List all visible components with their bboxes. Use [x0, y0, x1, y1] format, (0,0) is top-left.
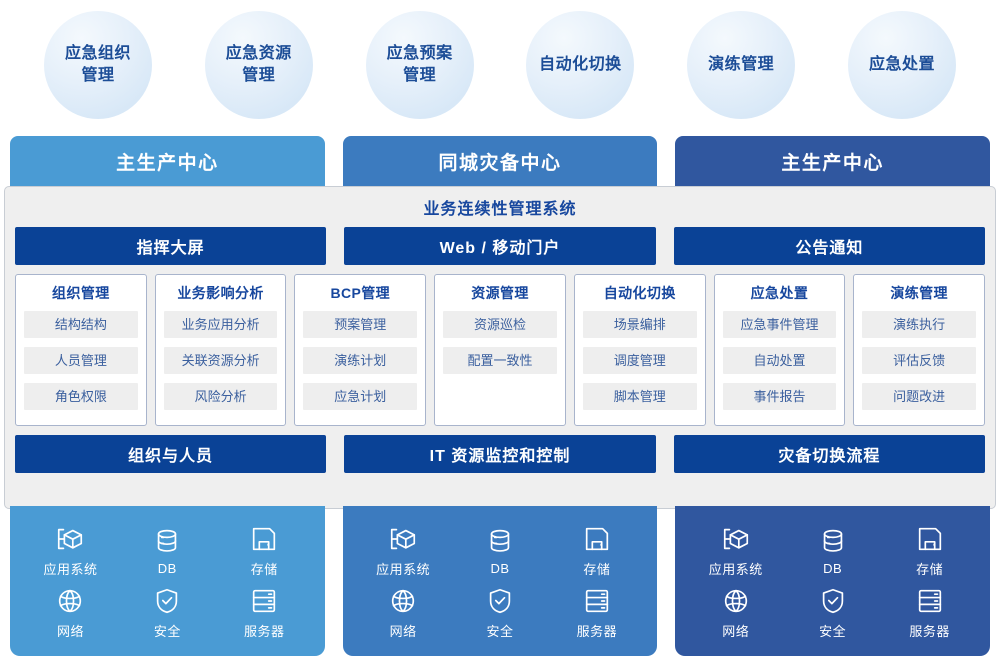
tab-primary-production-center[interactable]: 主生产中心	[10, 136, 325, 192]
module-card-title: 资源管理	[443, 283, 557, 303]
infra-item-label: 存储	[583, 559, 610, 578]
module-card-item[interactable]: 应急事件管理	[723, 311, 837, 338]
capability-circles-row: 应急组织 管理 应急资源 管理 应急预案 管理 自动化切换 演练管理 应急处置	[0, 0, 1000, 130]
capability-circle-label-line1: 应急资源	[218, 43, 300, 65]
module-card-item[interactable]: 预案管理	[303, 311, 417, 338]
infra-item-network[interactable]: 网络	[355, 586, 452, 640]
module-card-title: 组织管理	[24, 283, 138, 303]
tab-primary-production-center-2[interactable]: 主生产中心	[675, 136, 990, 192]
module-card-automated-switchover[interactable]: 自动化切换 场景编排 调度管理 脚本管理	[574, 274, 706, 426]
application-cube-icon	[55, 524, 85, 554]
infra-item-label: DB	[158, 561, 177, 576]
bar-announcement-notice[interactable]: 公告通知	[674, 227, 985, 265]
infrastructure-panel-primary-production-2: 应用系统 DB 存储	[675, 506, 990, 656]
capability-circle-emergency-plan[interactable]: 应急预案 管理	[366, 11, 474, 119]
module-card-title: 应急处置	[723, 283, 837, 303]
capability-circle-label-line2: 管理	[218, 65, 300, 87]
infra-item-label: 网络	[57, 621, 84, 640]
module-card-item[interactable]: 演练计划	[303, 347, 417, 374]
infra-item-storage[interactable]: 存储	[881, 524, 978, 578]
module-card-org-management[interactable]: 组织管理 结构结构 人员管理 角色权限	[15, 274, 147, 426]
storage-save-icon	[915, 524, 945, 554]
module-card-item[interactable]: 资源巡检	[443, 311, 557, 338]
infra-item-network[interactable]: 网络	[687, 586, 784, 640]
infra-item-label: 安全	[819, 621, 846, 640]
module-card-item[interactable]: 配置一致性	[443, 347, 557, 374]
module-card-item[interactable]: 角色权限	[24, 383, 138, 410]
infrastructure-panels-row: 应用系统 DB 存储	[10, 506, 990, 656]
module-card-resource-management[interactable]: 资源管理 资源巡检 配置一致性	[434, 274, 566, 426]
bcm-system-panel: 业务连续性管理系统 指挥大屏 Web / 移动门户 公告通知 组织管理 结构结构…	[4, 186, 996, 509]
infra-item-application-system[interactable]: 应用系统	[355, 524, 452, 578]
infra-item-storage[interactable]: 存储	[548, 524, 645, 578]
bcm-system-title: 业务连续性管理系统	[15, 195, 985, 225]
database-icon	[818, 526, 848, 556]
module-card-item[interactable]: 应急计划	[303, 383, 417, 410]
module-card-bcp-management[interactable]: BCP管理 预案管理 演练计划 应急计划	[294, 274, 426, 426]
infra-item-storage[interactable]: 存储	[216, 524, 313, 578]
capability-circle-drill-management[interactable]: 演练管理	[687, 11, 795, 119]
infra-item-application-system[interactable]: 应用系统	[22, 524, 119, 578]
network-globe-icon	[55, 586, 85, 616]
infra-item-label: DB	[490, 561, 509, 576]
module-card-item[interactable]: 调度管理	[583, 347, 697, 374]
capability-circle-auto-switch[interactable]: 自动化切换	[526, 11, 634, 119]
bar-dr-switchover-process[interactable]: 灾备切换流程	[674, 435, 985, 473]
module-card-emergency-response[interactable]: 应急处置 应急事件管理 自动处置 事件报告	[714, 274, 846, 426]
storage-save-icon	[249, 524, 279, 554]
bar-command-dashboard[interactable]: 指挥大屏	[15, 227, 326, 265]
infra-item-db[interactable]: DB	[784, 526, 881, 576]
infra-item-label: DB	[823, 561, 842, 576]
bcm-top-bars-row: 指挥大屏 Web / 移动门户 公告通知	[15, 227, 985, 265]
shield-check-icon	[485, 586, 515, 616]
shield-check-icon	[818, 586, 848, 616]
storage-save-icon	[582, 524, 612, 554]
infra-item-server[interactable]: 服务器	[216, 586, 313, 640]
module-card-item[interactable]: 问题改进	[862, 383, 976, 410]
database-icon	[485, 526, 515, 556]
module-card-item[interactable]: 结构结构	[24, 311, 138, 338]
infra-item-security[interactable]: 安全	[784, 586, 881, 640]
bar-organization-and-people[interactable]: 组织与人员	[15, 435, 326, 473]
tab-metro-dr-center[interactable]: 同城灾备中心	[343, 136, 658, 192]
server-rack-icon	[249, 586, 279, 616]
capability-circle-emergency-resource[interactable]: 应急资源 管理	[205, 11, 313, 119]
module-card-item[interactable]: 自动处置	[723, 347, 837, 374]
bar-it-resource-monitoring-control[interactable]: IT 资源监控和控制	[344, 435, 655, 473]
infra-item-application-system[interactable]: 应用系统	[687, 524, 784, 578]
infrastructure-panel-primary-production: 应用系统 DB 存储	[10, 506, 325, 656]
module-card-item[interactable]: 评估反馈	[862, 347, 976, 374]
capability-circle-label-line1: 应急处置	[861, 54, 943, 76]
module-card-item[interactable]: 业务应用分析	[164, 311, 278, 338]
infra-item-label: 存储	[251, 559, 278, 578]
application-cube-icon	[388, 524, 418, 554]
infra-item-label: 存储	[916, 559, 943, 578]
infra-item-security[interactable]: 安全	[119, 586, 216, 640]
capability-circle-label-line1: 演练管理	[700, 54, 782, 76]
infra-item-db[interactable]: DB	[119, 526, 216, 576]
module-card-title: 演练管理	[862, 283, 976, 303]
module-card-drill-management[interactable]: 演练管理 演练执行 评估反馈 问题改进	[853, 274, 985, 426]
module-card-item[interactable]: 脚本管理	[583, 383, 697, 410]
infra-item-label: 网络	[390, 621, 417, 640]
infra-item-label: 安全	[487, 621, 514, 640]
server-rack-icon	[582, 586, 612, 616]
capability-circle-label-line1: 应急预案	[379, 43, 461, 65]
data-center-tabs-row: 主生产中心 同城灾备中心 主生产中心	[10, 136, 990, 192]
module-card-title: 业务影响分析	[164, 283, 278, 303]
module-card-title: BCP管理	[303, 283, 417, 303]
bcm-bottom-bars-row: 组织与人员 IT 资源监控和控制 灾备切换流程	[15, 435, 985, 473]
database-icon	[152, 526, 182, 556]
capability-circle-label-line1: 自动化切换	[531, 54, 630, 76]
application-cube-icon	[721, 524, 751, 554]
infra-item-label: 服务器	[909, 621, 950, 640]
network-globe-icon	[721, 586, 751, 616]
capability-circle-emergency-response[interactable]: 应急处置	[848, 11, 956, 119]
module-card-item[interactable]: 风险分析	[164, 383, 278, 410]
module-card-item[interactable]: 事件报告	[723, 383, 837, 410]
infra-item-db[interactable]: DB	[452, 526, 549, 576]
capability-circle-label-line1: 应急组织	[57, 43, 139, 65]
module-cards-row: 组织管理 结构结构 人员管理 角色权限 业务影响分析 业务应用分析 关联资源分析…	[15, 274, 985, 426]
module-card-title: 自动化切换	[583, 283, 697, 303]
infra-item-label: 应用系统	[376, 559, 430, 578]
module-card-business-impact-analysis[interactable]: 业务影响分析 业务应用分析 关联资源分析 风险分析	[155, 274, 287, 426]
module-card-item[interactable]: 场景编排	[583, 311, 697, 338]
infra-item-label: 安全	[154, 621, 181, 640]
server-rack-icon	[915, 586, 945, 616]
bar-web-mobile-portal[interactable]: Web / 移动门户	[344, 227, 655, 265]
network-globe-icon	[388, 586, 418, 616]
infra-item-label: 应用系统	[43, 559, 97, 578]
module-card-item[interactable]: 关联资源分析	[164, 347, 278, 374]
infra-item-network[interactable]: 网络	[22, 586, 119, 640]
infra-item-security[interactable]: 安全	[452, 586, 549, 640]
capability-circle-emergency-org[interactable]: 应急组织 管理	[44, 11, 152, 119]
module-card-item[interactable]: 人员管理	[24, 347, 138, 374]
infra-item-server[interactable]: 服务器	[548, 586, 645, 640]
infrastructure-panel-metro-dr: 应用系统 DB 存储	[343, 506, 658, 656]
module-card-item[interactable]: 演练执行	[862, 311, 976, 338]
infra-item-server[interactable]: 服务器	[881, 586, 978, 640]
infra-item-label: 网络	[722, 621, 749, 640]
capability-circle-label-line2: 管理	[379, 65, 461, 87]
capability-circle-label-line2: 管理	[57, 65, 139, 87]
shield-check-icon	[152, 586, 182, 616]
infra-item-label: 应用系统	[709, 559, 763, 578]
infra-item-label: 服务器	[244, 621, 285, 640]
infra-item-label: 服务器	[577, 621, 618, 640]
